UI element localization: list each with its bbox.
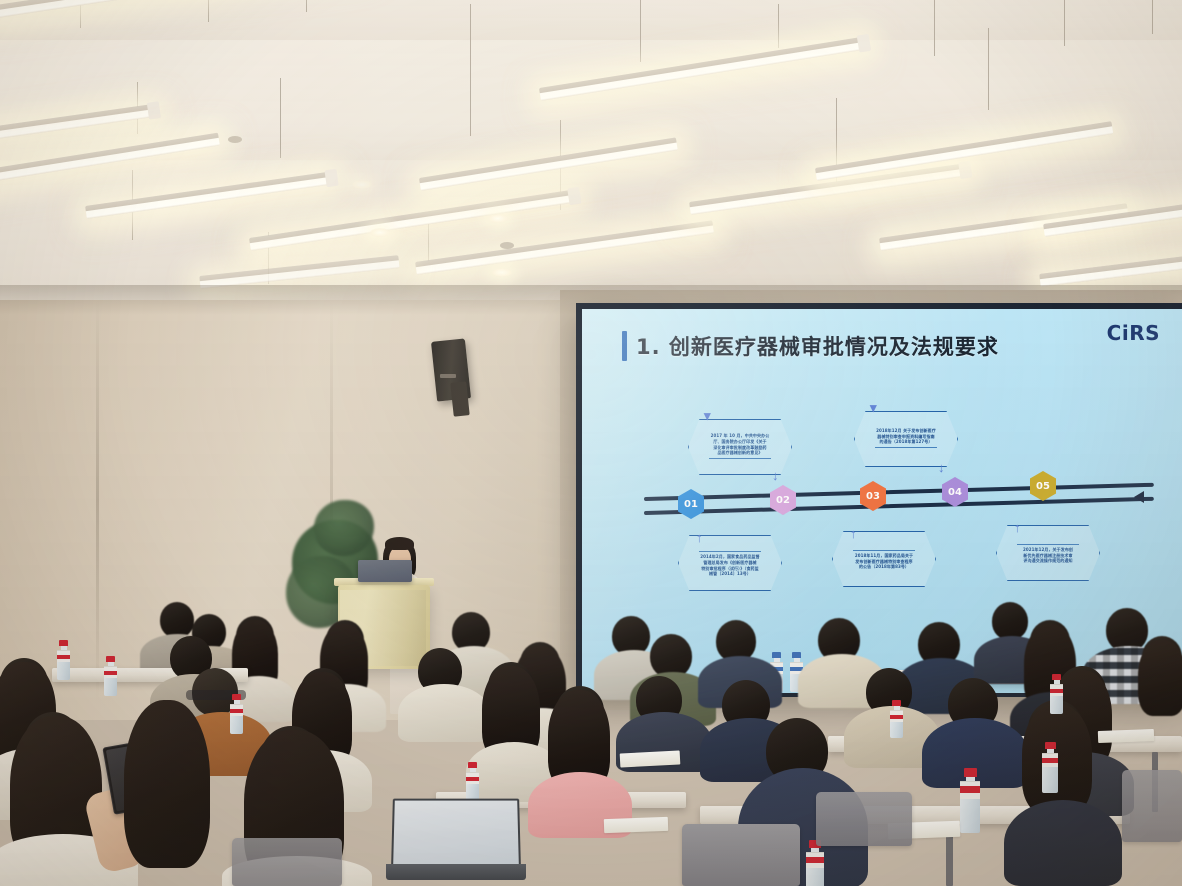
timeline-card-2: 2018年12月 关于发布创新医疗 器械特别审查申报资料编写指南 的通告（201… [854, 411, 958, 467]
timeline-card-5: 2021年12月，关于发布创 新优先医疗器械注册技术审 评沟通交流操作规范的通知 [996, 525, 1100, 581]
water-bottle [806, 840, 824, 886]
timeline-card-4-line-3: 的公告（2018年第83号） [859, 564, 909, 570]
attendee-laptop[interactable] [386, 798, 526, 884]
timeline-card-3-line-4: 械管〔2014〕13号） [709, 571, 751, 577]
timeline-node-05[interactable]: 05 [1030, 471, 1056, 501]
timeline-card-2-line-3: 的通告（2018年第127号） [880, 439, 933, 445]
timeline-node-04-label: 04 [948, 487, 962, 498]
timeline-card-1-arrow-down-icon: ↓ [772, 469, 779, 482]
water-bottle [57, 640, 70, 680]
timeline-card-1-arrow-up-icon: ▾ [704, 409, 711, 422]
water-bottle [1050, 674, 1063, 714]
water-bottle [890, 700, 903, 738]
timeline-card-3-arrow-up-icon: ↑ [696, 531, 703, 544]
timeline-node-01-label: 01 [684, 499, 698, 510]
presenter-pointer-icon [1134, 491, 1144, 503]
timeline-node-01[interactable]: 01 [678, 489, 704, 519]
wall-left [0, 300, 600, 720]
timeline-card-5-arrow-up-icon: ↑ [1014, 521, 1021, 534]
water-bottle [104, 656, 117, 696]
handout-paper [1098, 729, 1154, 743]
timeline-card-4-arrow-up-icon: ↑ [850, 527, 857, 540]
timeline-node-05-label: 05 [1036, 481, 1050, 492]
handout-paper [604, 817, 668, 833]
timeline-card-1-line-4: 品医疗器械创新的意见》 [717, 450, 762, 456]
timeline-card-1: 2017 年 10 月，中共中央办公 厅、国务院办公厅印发《关于 深化审评审批制… [688, 419, 792, 475]
timeline-node-02-label: 02 [776, 495, 790, 506]
water-bottle [1042, 742, 1058, 793]
water-bottle [960, 768, 980, 833]
presentation-photo-scene: 1. 创新医疗器械审批情况及法规要求 CiRS 01 02 03 04 [0, 0, 1182, 886]
timeline-node-03-label: 03 [866, 491, 880, 502]
timeline-card-4: 2018年11月，国家药品局关于 发布创新医疗器械特别审查程序 的公告（2018… [832, 531, 936, 587]
presenter-laptop [358, 560, 412, 582]
ceiling [0, 0, 1182, 330]
timeline-rail-lower [644, 497, 1154, 515]
timeline-card-3: 2014年2月，国家食品药品监督 管理总局发布《创新医疗器械 特别审批程序（试行… [678, 535, 782, 591]
timeline-card-5-line-3: 评沟通交流操作规范的通知 [1023, 558, 1072, 564]
timeline-card-2-arrow-down-icon: ↓ [938, 461, 945, 474]
timeline-card-2-arrow-up-icon: ▾ [870, 401, 877, 414]
water-bottle [230, 694, 243, 734]
